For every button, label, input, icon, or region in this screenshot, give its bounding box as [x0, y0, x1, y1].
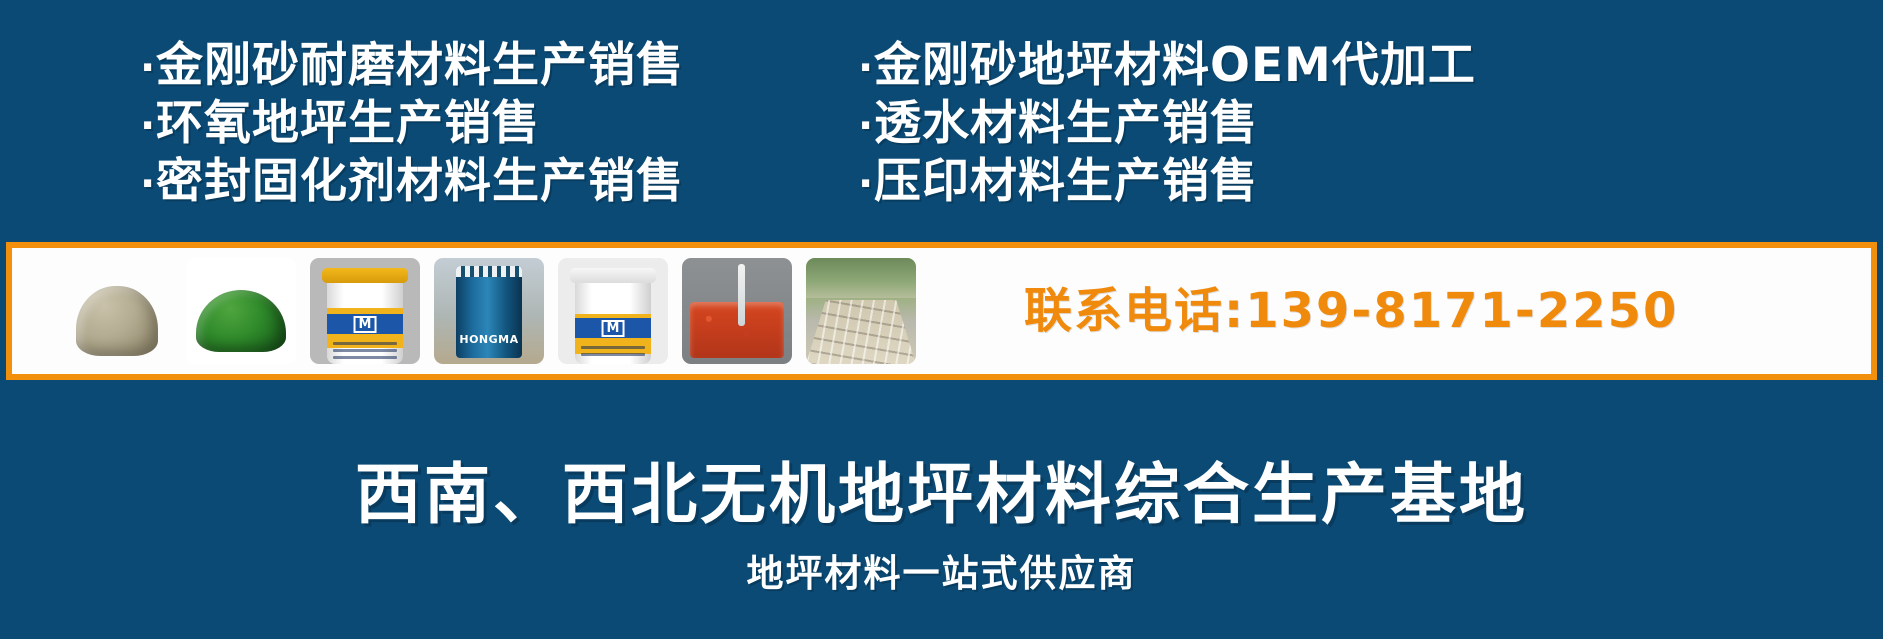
feature-label: 环氧地坪生产销售 — [156, 96, 540, 152]
stamped-paving-path-icon — [806, 258, 916, 364]
pail-label-text-line — [333, 342, 397, 345]
pail-label-text-line — [581, 346, 645, 349]
curing-agent-pail-icon: M — [310, 258, 420, 364]
feature-label: 金刚砂地坪材料OEM代加工 — [874, 38, 1476, 94]
product-strip: M HONGMA M — [6, 242, 1877, 380]
bullet-icon: · — [140, 40, 156, 96]
sand-powder-heap-icon — [62, 258, 172, 364]
feature-item: · 金刚砂耐磨材料生产销售 — [140, 38, 858, 96]
bullet-icon: · — [140, 98, 156, 154]
feature-column-left: · 金刚砂耐磨材料生产销售 · 环氧地坪生产销售 · 密封固化剂材料生产销售 — [140, 38, 858, 238]
bullet-icon: · — [858, 40, 874, 96]
red-permeable-sample-icon — [682, 258, 792, 364]
page-subtitle: 地坪材料一站式供应商 — [0, 550, 1883, 598]
feature-item: · 压印材料生产销售 — [858, 154, 1858, 212]
feature-label: 透水材料生产销售 — [874, 96, 1258, 152]
bullet-icon: · — [858, 98, 874, 154]
feature-item: · 密封固化剂材料生产销售 — [140, 154, 858, 212]
green-powder-heap-icon — [186, 258, 296, 364]
promo-banner: · 金刚砂耐磨材料生产销售 · 环氧地坪生产销售 · 密封固化剂材料生产销售 ·… — [0, 0, 1883, 639]
product-thumbnail-list: M HONGMA M — [12, 258, 916, 364]
page-title: 西南、西北无机地坪材料综合生产基地 — [0, 455, 1883, 535]
blue-drum-icon: HONGMA — [434, 258, 544, 364]
pail-body: M — [575, 268, 651, 364]
drum-rim — [456, 266, 522, 277]
pail-label-text-line — [581, 353, 645, 356]
pail-label-text-line — [333, 349, 397, 352]
pail-lid — [570, 268, 656, 283]
bullet-icon: · — [858, 156, 874, 212]
feature-item: · 环氧地坪生产销售 — [140, 96, 858, 154]
feature-item: · 金刚砂地坪材料OEM代加工 — [858, 38, 1858, 96]
feature-list: · 金刚砂耐磨材料生产销售 · 环氧地坪生产销售 · 密封固化剂材料生产销售 ·… — [0, 38, 1883, 238]
feature-column-right: · 金刚砂地坪材料OEM代加工 · 透水材料生产销售 · 压印材料生产销售 — [858, 38, 1858, 238]
drum-brand-label: HONGMA — [456, 333, 522, 346]
pail-body: M — [327, 268, 403, 364]
brand-m-logo: M — [354, 316, 377, 333]
brand-m-logo: M — [602, 320, 625, 337]
feature-label: 密封固化剂材料生产销售 — [156, 154, 684, 210]
feature-label: 金刚砂耐磨材料生产销售 — [156, 38, 684, 94]
feature-label: 压印材料生产销售 — [874, 154, 1258, 210]
feature-item: · 透水材料生产销售 — [858, 96, 1858, 154]
bullet-icon: · — [140, 156, 156, 212]
pail-lid — [322, 268, 408, 283]
contact-phone[interactable]: 联系电话:139-8171-2250 — [1024, 285, 1678, 337]
pail-label-text-line — [333, 356, 397, 359]
white-pail-icon: M — [558, 258, 668, 364]
drum-body: HONGMA — [456, 266, 522, 358]
